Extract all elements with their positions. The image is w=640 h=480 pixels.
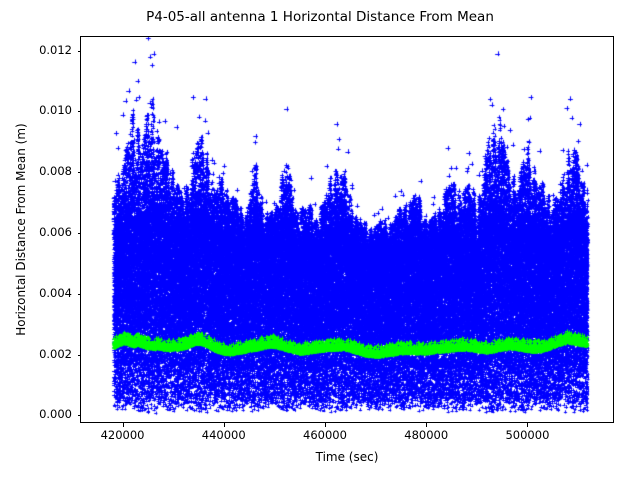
y-tick-mark <box>78 355 82 356</box>
y-tick-label: 0.000 <box>2 407 80 421</box>
y-tick-mark <box>78 172 82 173</box>
x-tick-mark <box>527 423 528 427</box>
y-tick-label: 0.006 <box>2 225 80 239</box>
y-axis-tick-labels: 0.0000.0020.0040.0060.0080.0100.012 <box>0 36 80 423</box>
y-tick-label: 0.010 <box>2 103 80 117</box>
x-tick-mark <box>426 423 427 427</box>
y-tick-mark <box>78 415 82 416</box>
x-axis-label: Time (sec) <box>80 450 614 464</box>
x-tick-mark <box>123 423 124 427</box>
y-tick-mark <box>78 294 82 295</box>
y-tick-label: 0.002 <box>2 347 80 361</box>
x-tick-mark <box>224 423 225 427</box>
y-tick-label: 0.012 <box>2 43 80 57</box>
matplotlib-figure: P4-05-all antenna 1 Horizontal Distance … <box>0 0 640 480</box>
x-tick-label: 500000 <box>467 428 587 442</box>
chart-title: P4-05-all antenna 1 Horizontal Distance … <box>0 9 640 25</box>
y-tick-label: 0.004 <box>2 286 80 300</box>
y-tick-label: 0.008 <box>2 164 80 178</box>
x-tick-mark <box>325 423 326 427</box>
scatter-plot-canvas <box>81 37 615 424</box>
y-tick-mark <box>78 51 82 52</box>
y-tick-mark <box>78 233 82 234</box>
y-tick-mark <box>78 111 82 112</box>
plot-area <box>80 36 614 423</box>
